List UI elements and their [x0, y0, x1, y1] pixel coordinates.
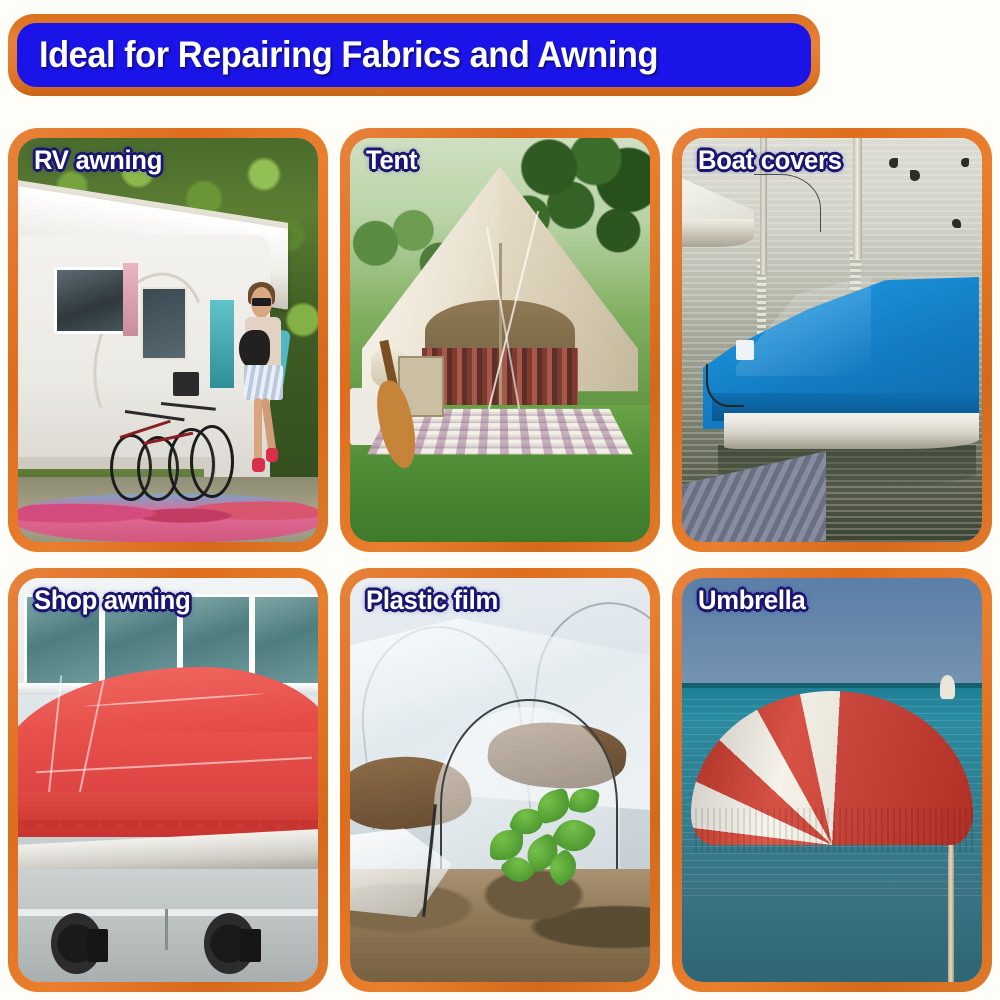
duck-icon	[910, 170, 920, 181]
photo-plastic-film: Plastic film	[350, 578, 650, 982]
card-label-shop-awning: Shop awning	[34, 585, 190, 616]
person-with-dog	[234, 287, 294, 481]
photo-rv-awning: RV awning	[18, 138, 318, 542]
card-label-plastic-film: Plastic film	[366, 585, 498, 616]
photo-shop-awning: Shop awning	[18, 578, 318, 982]
hanging-cord	[165, 909, 168, 949]
photo-umbrella: Umbrella	[682, 578, 982, 982]
duck-icon	[961, 158, 969, 167]
rv-window	[54, 267, 126, 334]
header-banner-inner: Ideal for Repairing Fabrics and Awning	[17, 23, 811, 87]
umbrella-fringe	[691, 808, 973, 852]
card-label-boat-covers: Boat covers	[698, 145, 842, 176]
duck-icon	[952, 219, 961, 229]
feature-card-grid: RV awning Tent	[8, 128, 992, 992]
mooring-pole-right	[853, 138, 862, 259]
background-sailboat-hull	[682, 219, 754, 247]
card-label-rv-awning: RV awning	[34, 145, 162, 176]
feature-card-tent[interactable]: Tent	[340, 128, 660, 552]
feature-card-boat-covers[interactable]: Boat covers	[672, 128, 992, 552]
wall-fan-mount	[240, 929, 261, 961]
card-label-umbrella: Umbrella	[698, 585, 805, 616]
rv-door	[141, 287, 187, 360]
boat-hull	[724, 413, 979, 449]
cover-repair-patch	[736, 340, 754, 360]
feature-card-plastic-film[interactable]: Plastic film	[340, 568, 660, 992]
duck-icon	[889, 158, 898, 168]
photo-boat-covers: Boat covers	[682, 138, 982, 542]
card-label-tent: Tent	[366, 145, 417, 176]
feature-card-shop-awning[interactable]: Shop awning	[8, 568, 328, 992]
seedling-plants	[476, 772, 614, 909]
bicycles	[108, 352, 228, 497]
photo-tent: Tent	[350, 138, 650, 542]
horizon-line	[682, 683, 982, 688]
rail	[18, 909, 318, 915]
page-title: Ideal for Repairing Fabrics and Awning	[39, 34, 658, 76]
rv-pink-panel	[123, 263, 138, 336]
feature-card-umbrella[interactable]: Umbrella	[672, 568, 992, 992]
umbrella-finial	[940, 675, 955, 699]
feature-card-rv-awning[interactable]: RV awning	[8, 128, 328, 552]
wall-fan-mount	[87, 929, 108, 961]
ground-mat	[18, 494, 318, 542]
header-banner: Ideal for Repairing Fabrics and Awning	[8, 14, 820, 96]
